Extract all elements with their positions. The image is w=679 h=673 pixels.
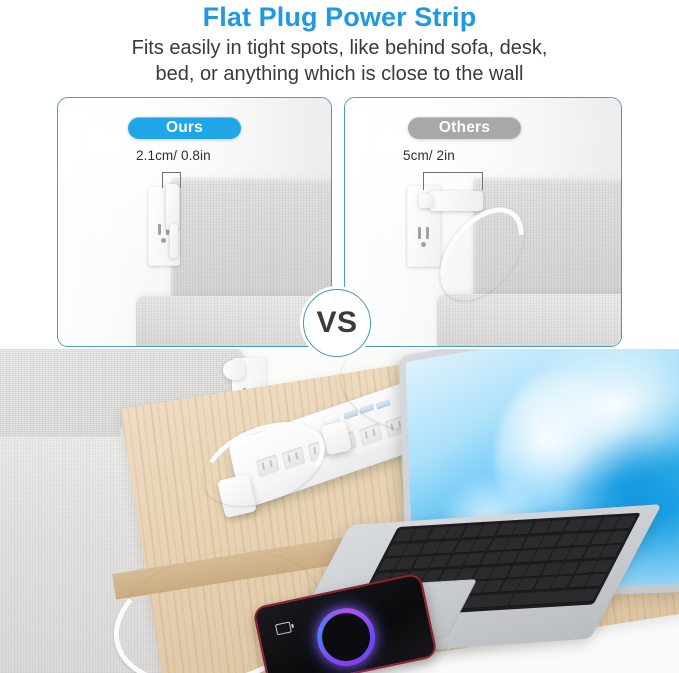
- page-subtitle: Fits easily in tight spots, like behind …: [0, 35, 679, 87]
- flat-plug-cable-exit-ours: [170, 224, 178, 258]
- ac-outlet: [359, 423, 382, 447]
- measurement-label-ours: 2.1cm/ 0.8in: [136, 148, 211, 163]
- bulky-plug-others: [429, 191, 483, 211]
- comparison-panel-others: 5cm/ 2in Others: [344, 97, 622, 347]
- measurement-tick-right-ours: [180, 172, 181, 188]
- measurement-tick-left-others: [423, 172, 424, 190]
- outlet-slot: [158, 224, 161, 235]
- measurement-label-others: 5cm/ 2in: [403, 148, 455, 163]
- scene-wall-plug: [223, 360, 245, 380]
- battery-icon: [275, 621, 292, 635]
- measurement-tick-right-others: [482, 172, 483, 190]
- badge-others: Others: [408, 117, 521, 139]
- outlet-slot: [426, 227, 429, 239]
- header: Flat Plug Power Strip Fits easily in tig…: [0, 0, 679, 92]
- page-title: Flat Plug Power Strip: [0, 1, 679, 33]
- measurement-bar-others: [423, 172, 482, 173]
- lifestyle-scene: [0, 349, 679, 673]
- usb-port: [344, 409, 358, 419]
- measurement-tick-left-ours: [162, 172, 163, 188]
- product-marketing-image: Flat Plug Power Strip Fits easily in tig…: [0, 0, 679, 673]
- sofa-seat-others: [437, 294, 622, 347]
- charging-ring-indicator: [312, 603, 381, 672]
- subtitle-line-1: Fits easily in tight spots, like behind …: [132, 37, 548, 59]
- measurement-bar-ours: [162, 172, 180, 173]
- vs-badge: VS: [303, 289, 371, 357]
- comparison-section: 2.1cm/ 0.8in Ours 5cm/ 2in O: [0, 97, 679, 349]
- bulky-plug-neck-others: [419, 194, 433, 208]
- subtitle-line-2: bed, or anything which is close to the w…: [0, 61, 679, 87]
- outlet-ground: [421, 242, 426, 247]
- outlet-ground: [161, 238, 166, 243]
- comparison-panel-ours: 2.1cm/ 0.8in Ours: [57, 97, 332, 347]
- badge-ours: Ours: [128, 117, 241, 139]
- outlet-slot: [418, 227, 421, 239]
